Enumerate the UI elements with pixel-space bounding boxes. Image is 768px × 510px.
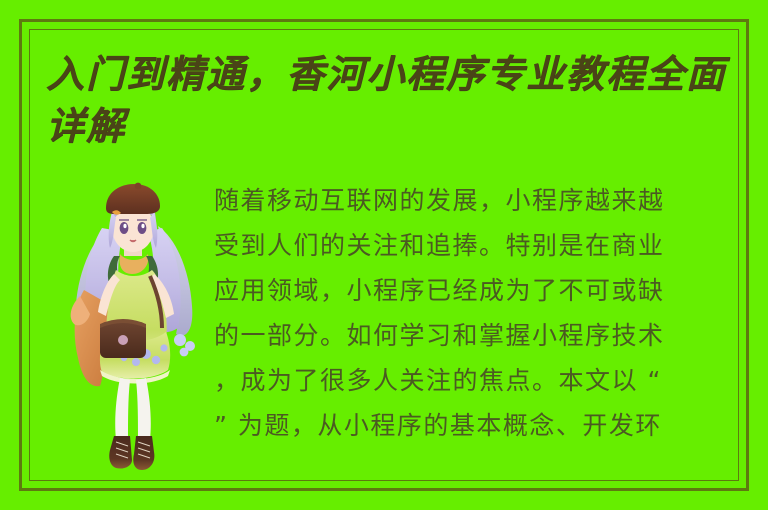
boot-left bbox=[109, 436, 132, 469]
leg-left bbox=[115, 378, 130, 440]
body-line: 受到人们的关注和追捧。特别是在商业 bbox=[214, 223, 734, 268]
poster-title-line-2: 详解 bbox=[46, 103, 126, 148]
eye-highlight-right bbox=[141, 224, 144, 228]
scarf bbox=[120, 254, 149, 274]
beret-hat bbox=[106, 184, 160, 214]
poster-canvas: 入门到精通，香河小程序专业教程全面 详解 随着移动互联网的发展，小程序越来越 受… bbox=[0, 0, 768, 510]
leg-right bbox=[136, 378, 151, 440]
body-line: ，成为了很多人关注的焦点。本文以 “ bbox=[214, 358, 734, 403]
boot-right bbox=[133, 436, 154, 470]
eye-left bbox=[120, 222, 129, 234]
anime-girl-svg bbox=[62, 182, 222, 474]
body-line: 应用领域，小程序已经成为了不可或缺 bbox=[214, 268, 734, 313]
body-line: 随着移动互联网的发展，小程序越来越 bbox=[214, 178, 734, 223]
bag-charm-icon bbox=[118, 335, 128, 345]
sleeve-flower-decoration bbox=[174, 334, 195, 356]
eye-right bbox=[138, 222, 147, 234]
body-line: 的一部分。如何学习和掌握小程序技术 bbox=[214, 313, 734, 358]
body-line: ” 为题，从小程序的基本概念、开发环 bbox=[214, 403, 734, 448]
anime-girl-illustration bbox=[62, 182, 222, 474]
beret-nub bbox=[135, 183, 142, 190]
eye-highlight-left bbox=[123, 224, 126, 228]
poster-title: 入门到精通，香河小程序专业教程全面 详解 bbox=[46, 48, 736, 152]
poster-body-text: 随着移动互联网的发展，小程序越来越 受到人们的关注和追捧。特别是在商业 应用领域… bbox=[214, 178, 734, 448]
poster-title-line-1: 入门到精通，香河小程序专业教程全面 bbox=[46, 51, 726, 96]
mouth bbox=[130, 240, 136, 242]
